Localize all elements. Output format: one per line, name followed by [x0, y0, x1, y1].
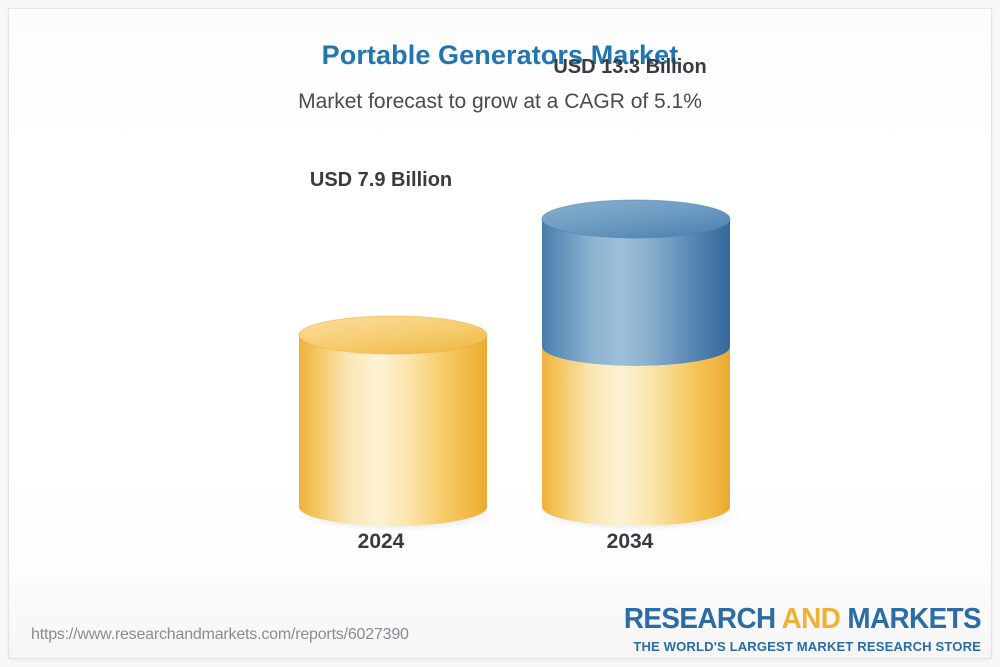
bar-body-lower-2034	[542, 347, 730, 525]
bar-body-upper-2034	[542, 219, 730, 366]
brand-logo-wordmark: RESEARCH AND MARKETS	[624, 605, 981, 634]
chart-subtitle: Market forecast to grow at a CAGR of 5.1…	[9, 90, 991, 114]
bar-body-2024	[299, 335, 487, 526]
brand-logo[interactable]: RESEARCH AND MARKETS THE WORLD'S LARGEST…	[609, 605, 981, 653]
page-title: Portable Generators Market	[9, 40, 991, 71]
category-label-2034: 2034	[514, 530, 746, 554]
bar-cylinder-2034	[528, 199, 744, 535]
bar-cylinder-2024	[285, 315, 501, 535]
brand-logo-and: AND	[782, 603, 841, 635]
brand-logo-research: RESEARCH	[624, 603, 782, 635]
value-label-2034: USD 13.3 Billion	[514, 56, 746, 79]
brand-logo-markets: MARKETS	[840, 603, 981, 635]
chart-card: Portable Generators Market Market foreca…	[8, 8, 992, 659]
report-url[interactable]: https://www.researchandmarkets.com/repor…	[31, 626, 409, 644]
value-label-2024: USD 7.9 Billion	[271, 169, 491, 192]
brand-logo-tagline: THE WORLD'S LARGEST MARKET RESEARCH STOR…	[613, 640, 981, 653]
category-label-2024: 2024	[271, 530, 491, 554]
chart-canvas: Portable Generators Market Market foreca…	[0, 0, 1000, 667]
